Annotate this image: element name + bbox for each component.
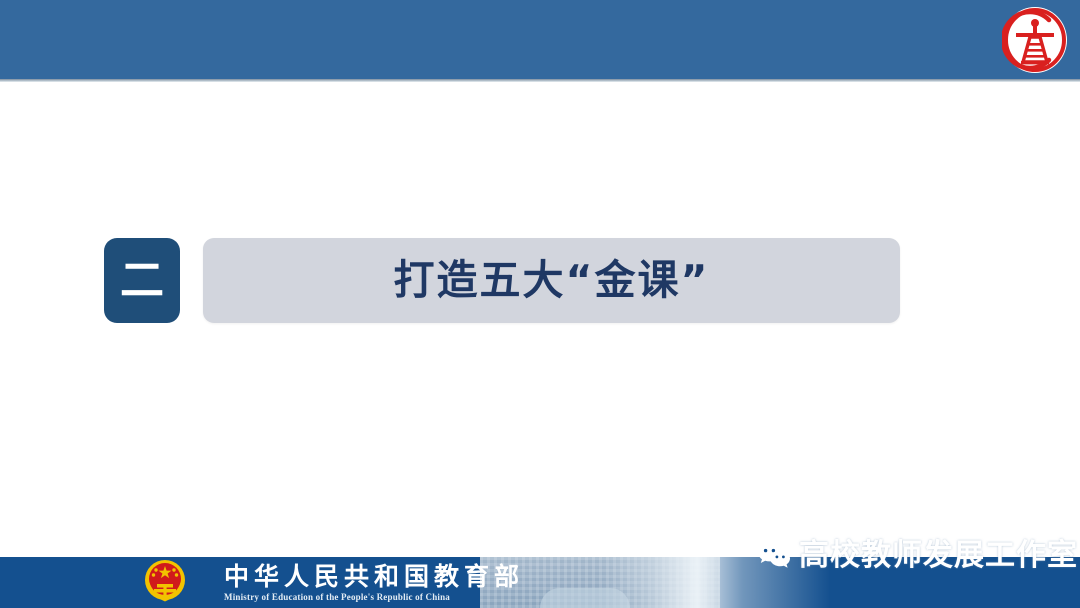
- wechat-watermark: 高校教师发展工作室: [757, 534, 1073, 578]
- china-national-emblem-icon: [141, 556, 189, 606]
- slide-root: 二 打造五大“金课” 中华人民共和国教育部 Ministry of Ed: [0, 0, 1080, 608]
- ministry-wordmark: 中华人民共和国教育部 Ministry of Education of the …: [224, 560, 514, 606]
- section-heading-row: 二 打造五大“金课”: [104, 238, 900, 323]
- ministry-name-en: Ministry of Education of the People's Re…: [224, 592, 514, 603]
- watermark-label: 高校教师发展工作室: [799, 541, 1078, 571]
- header-divider-rule: [0, 79, 1080, 82]
- section-number-badge: 二: [104, 238, 180, 323]
- ministry-name-cn: 中华人民共和国教育部: [224, 563, 514, 590]
- wechat-icon: [757, 541, 791, 571]
- section-number-label: 二: [120, 259, 164, 303]
- section-title-text: 打造五大“金课”: [394, 260, 710, 301]
- header-band: [0, 0, 1080, 79]
- section-title-bar: 打造五大“金课”: [203, 238, 900, 323]
- university-logo: [1002, 6, 1068, 74]
